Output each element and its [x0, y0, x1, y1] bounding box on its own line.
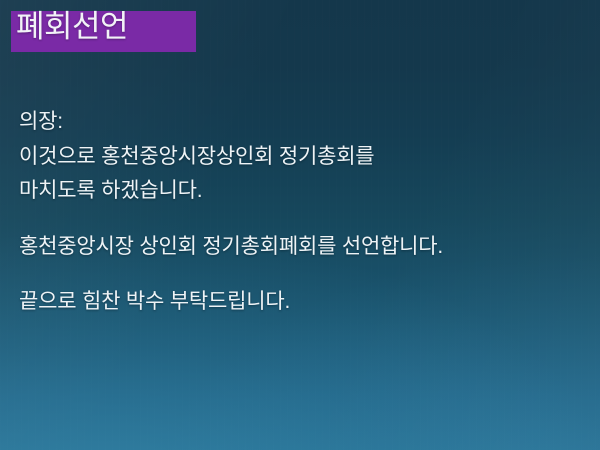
paragraph-spacer: [19, 209, 585, 230]
paragraph-1: 의장: 이것으로 홍천중앙시장상인회 정기총회를 마치도록 하겠습니다.: [19, 105, 585, 209]
paragraph-spacer: [19, 264, 585, 285]
body-line: 끝으로 힘찬 박수 부탁드립니다.: [19, 285, 585, 320]
body-line: 의장:: [19, 105, 585, 140]
paragraph-3: 끝으로 힘찬 박수 부탁드립니다.: [19, 285, 585, 320]
presentation-slide: 폐회선언 의장: 이것으로 홍천중앙시장상인회 정기총회를 마치도록 하겠습니다…: [0, 0, 600, 450]
body-line: 마치도록 하겠습니다.: [19, 174, 585, 209]
paragraph-2: 홍천중앙시장 상인회 정기총회폐회를 선언합니다.: [19, 230, 585, 265]
body-line: 이것으로 홍천중앙시장상인회 정기총회를: [19, 140, 585, 175]
body-line: 홍천중앙시장 상인회 정기총회폐회를 선언합니다.: [19, 230, 585, 265]
slide-body: 의장: 이것으로 홍천중앙시장상인회 정기총회를 마치도록 하겠습니다. 홍천중…: [19, 105, 585, 320]
slide-title: 폐회선언: [16, 10, 128, 44]
